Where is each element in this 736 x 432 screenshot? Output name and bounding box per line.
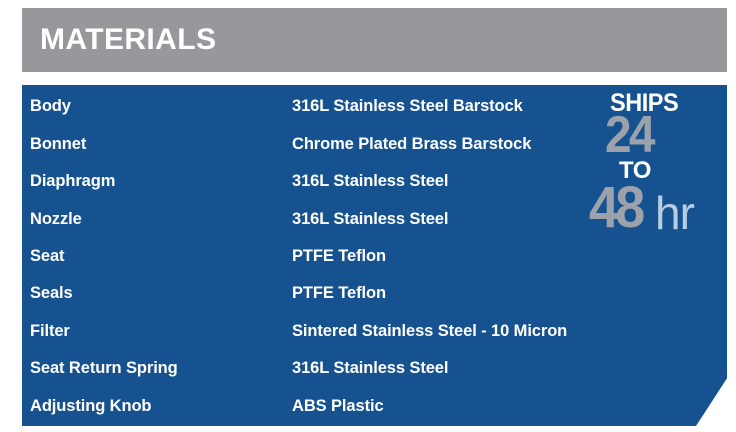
table-row: Body 316L Stainless Steel Barstock: [22, 88, 727, 125]
material-value: 316L Stainless Steel Barstock: [292, 98, 727, 115]
table-row: Bonnet Chrome Plated Brass Barstock: [22, 125, 727, 162]
material-value: PTFE Teflon: [292, 285, 727, 302]
material-component-label: Body: [22, 98, 292, 115]
material-value: 316L Stainless Steel: [292, 173, 727, 190]
table-row: Nozzle 316L Stainless Steel: [22, 200, 727, 237]
table-row: Seat Return Spring 316L Stainless Steel: [22, 350, 727, 387]
page-title: MATERIALS: [40, 25, 216, 55]
material-component-label: Bonnet: [22, 136, 292, 153]
material-component-label: Diaphragm: [22, 173, 292, 190]
material-component-label: Nozzle: [22, 211, 292, 228]
table-row: Diaphragm 316L Stainless Steel: [22, 163, 727, 200]
material-component-label: Seals: [22, 285, 292, 302]
materials-table-panel: Body 316L Stainless Steel Barstock Bonne…: [22, 85, 727, 426]
material-component-label: Filter: [22, 323, 292, 340]
material-value: Sintered Stainless Steel - 10 Micron: [292, 323, 727, 340]
table-row: Seat PTFE Teflon: [22, 238, 727, 275]
materials-header-bar: MATERIALS: [22, 8, 727, 72]
material-component-label: Adjusting Knob: [22, 398, 292, 415]
table-row: Adjusting Knob ABS Plastic: [22, 387, 727, 424]
table-row: Filter Sintered Stainless Steel - 10 Mic…: [22, 312, 727, 349]
material-component-label: Seat Return Spring: [22, 360, 292, 377]
table-row: Seals PTFE Teflon: [22, 275, 727, 312]
material-value: 316L Stainless Steel: [292, 360, 727, 377]
materials-spec-sheet: MATERIALS Body 316L Stainless Steel Bars…: [0, 0, 736, 432]
material-value: ABS Plastic: [292, 398, 727, 415]
material-value: PTFE Teflon: [292, 248, 727, 265]
material-component-label: Seat: [22, 248, 292, 265]
materials-table: Body 316L Stainless Steel Barstock Bonne…: [22, 85, 727, 425]
material-value: Chrome Plated Brass Barstock: [292, 136, 727, 153]
material-value: 316L Stainless Steel: [292, 211, 727, 228]
